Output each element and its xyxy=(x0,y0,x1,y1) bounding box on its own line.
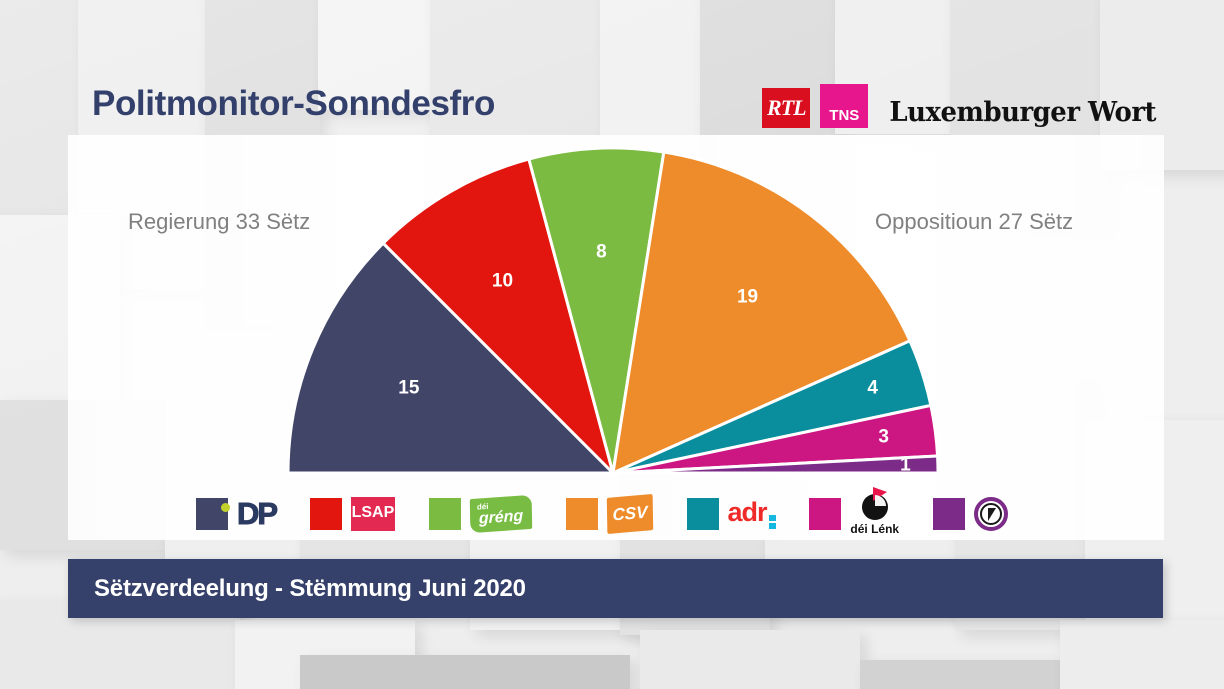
dp-logo-label: DP xyxy=(237,496,276,532)
rtl-logo: RTL xyxy=(762,88,810,128)
dei-lenk-logo: déi Lénk xyxy=(850,494,899,535)
dei-lenk-logo-label: déi Lénk xyxy=(850,523,899,535)
page-title: Politmonitor-Sonndesfro xyxy=(92,84,495,124)
pie-slice-label-piraten: 1 xyxy=(900,454,911,475)
legend-swatch-dei-greng xyxy=(429,498,461,530)
legend-item-dp[interactable]: DP xyxy=(196,490,276,538)
legend-item-csv[interactable]: CSV xyxy=(566,490,653,538)
dei-lenk-pie-icon xyxy=(862,494,888,520)
legend-swatch-piraten xyxy=(933,498,965,530)
piraten-logo xyxy=(974,497,1008,531)
adr-logo-colon-icon xyxy=(769,515,776,532)
pie-slices xyxy=(288,148,938,473)
legend-item-lsap[interactable]: LSAP xyxy=(310,490,395,538)
dei-greng-logo-label: gréng xyxy=(479,508,524,527)
government-seats-caption: Regierung 33 Sëtz xyxy=(128,209,310,235)
legend-item-adr[interactable]: adr xyxy=(687,490,776,538)
tns-logo: TNS xyxy=(820,84,868,128)
adr-logo: adr xyxy=(728,497,776,532)
pie-slice-label-csv: 19 xyxy=(737,287,758,308)
legend-item-piraten[interactable] xyxy=(933,490,1008,538)
pie-slice-label-lsap: 10 xyxy=(492,271,513,292)
legend-swatch-adr xyxy=(687,498,719,530)
legend-item-dei-greng[interactable]: déi gréng xyxy=(429,490,532,538)
legend-swatch-lsap xyxy=(310,498,342,530)
legend-item-dei-lenk[interactable]: déi Lénk xyxy=(809,490,899,538)
dp-logo-dot-icon xyxy=(221,503,230,512)
seat-distribution-chart: 1510819431 xyxy=(288,143,938,478)
pie-slice-label-dp: 15 xyxy=(398,377,420,398)
legend-swatch-dei-lenk xyxy=(809,498,841,530)
pirate-sail-icon xyxy=(980,503,1002,525)
pie-slice-label-adr: 4 xyxy=(867,378,878,399)
pie-slice-label-déi-lénk: 3 xyxy=(878,426,889,447)
logo-group: RTL TNS Luxemburger Wort xyxy=(762,84,1162,128)
legend: DP LSAP déi gréng CSV adr déi Lénk xyxy=(196,490,1008,538)
dp-logo: DP xyxy=(237,496,276,532)
footer-bar: Sëtzverdeelung - Stëmmung Juni 2020 xyxy=(68,559,1163,618)
dei-greng-logo: déi gréng xyxy=(470,495,532,533)
pie-slice-label-déi-gréng: 8 xyxy=(596,241,607,262)
legend-swatch-csv xyxy=(566,498,598,530)
footer-label: Sëtzverdeelung - Stëmmung Juni 2020 xyxy=(94,575,526,603)
csv-logo: CSV xyxy=(606,494,652,534)
chart-svg: 1510819431 xyxy=(288,143,938,478)
adr-logo-label: adr xyxy=(728,497,767,528)
luxemburger-wort-logo: Luxemburger Wort xyxy=(884,97,1156,128)
lsap-logo: LSAP xyxy=(351,497,395,531)
